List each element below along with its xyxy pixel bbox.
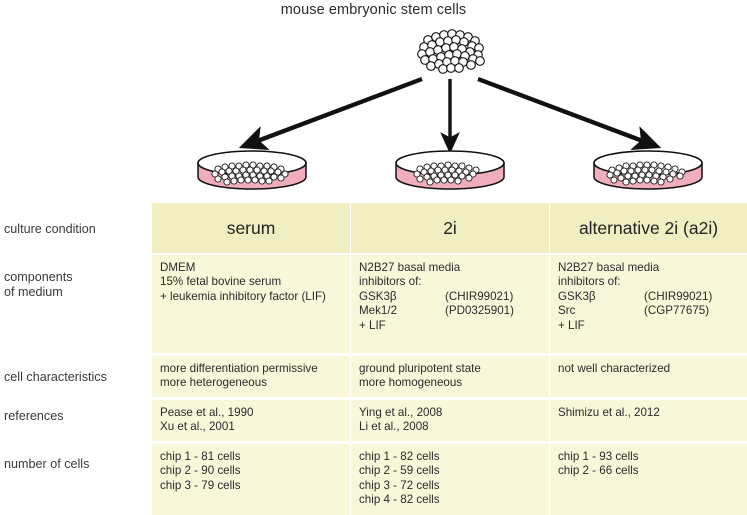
row-label-components-line1: components	[4, 270, 150, 285]
column-header-2i: 2i	[351, 203, 549, 253]
text-line: more heterogeneous	[160, 376, 350, 390]
chip-count-line: chip 1 - 82 cells	[359, 450, 549, 464]
inhibitor-compound: (CGP77675)	[644, 304, 747, 318]
petri-dish-serum	[192, 150, 312, 194]
inhibitor-compound: (PD0325901)	[445, 304, 549, 318]
row-label-cell-characteristics: cell characteristics	[4, 370, 150, 385]
table-row-references: Pease et al., 1990 Xu et al., 2001 Ying …	[152, 400, 747, 441]
inhibitor-target: GSK3β	[359, 290, 445, 304]
medium-inhibitor: Mek1/2 (PD0325901)	[359, 304, 549, 318]
text-line: not well characterized	[558, 362, 747, 376]
petri-dish-a2i	[588, 150, 708, 194]
cell-components-2i: N2B27 basal media inhibitors of: GSK3β (…	[351, 255, 549, 353]
medium-lif: + LIF	[558, 319, 747, 333]
cell-characteristics-2i: ground pluripotent state more homogeneou…	[351, 356, 549, 397]
cell-characteristics-a2i: not well characterized	[550, 356, 747, 397]
text-line: more homogeneous	[359, 376, 549, 390]
cell-counts-serum: chip 1 - 81 cells chip 2 - 90 cells chip…	[152, 444, 350, 515]
text-line: ground pluripotent state	[359, 362, 549, 376]
cell-components-a2i: N2B27 basal media inhibitors of: GSK3β (…	[550, 255, 747, 353]
inhibitor-compound: (CHIR99021)	[644, 290, 747, 304]
row-label-references: references	[4, 409, 150, 424]
petri-dish-2i	[390, 150, 510, 194]
reference-line: Pease et al., 1990	[160, 406, 350, 420]
chip-count-line: chip 4 - 82 cells	[359, 493, 549, 507]
chip-count-line: chip 2 - 66 cells	[558, 464, 747, 478]
figure-schematic: mouse embryonic stem cells	[0, 0, 747, 200]
table-grid: serum 2i alternative 2i (a2i) DMEM 15% f…	[152, 200, 747, 515]
row-label-culture-condition: culture condition	[4, 222, 150, 237]
chip-count-line: chip 1 - 81 cells	[160, 450, 350, 464]
column-header-serum: serum	[152, 203, 350, 253]
reference-line: Shimizu et al., 2012	[558, 406, 747, 420]
reference-line: Li et al., 2008	[359, 420, 549, 434]
row-label-column: culture condition components of medium c…	[0, 200, 152, 515]
medium-inhibitors-label: inhibitors of:	[558, 275, 747, 289]
inhibitor-compound: (CHIR99021)	[445, 290, 549, 304]
reference-line: Xu et al., 2001	[160, 420, 350, 434]
cell-characteristics-serum: more differentiation permissive more het…	[152, 356, 350, 397]
medium-inhibitor: GSK3β (CHIR99021)	[359, 290, 549, 304]
table-row-cell-characteristics: more differentiation permissive more het…	[152, 356, 747, 397]
chip-count-line: chip 3 - 72 cells	[359, 479, 549, 493]
arrow-to-serum	[252, 79, 422, 143]
cell-references-serum: Pease et al., 1990 Xu et al., 2001	[152, 400, 350, 441]
chip-count-line: chip 2 - 59 cells	[359, 464, 549, 478]
inhibitor-target: Mek1/2	[359, 304, 445, 318]
cell-references-a2i: Shimizu et al., 2012	[550, 400, 747, 441]
chip-count-line: chip 2 - 90 cells	[160, 464, 350, 478]
text-line: more differentiation permissive	[160, 362, 350, 376]
medium-inhibitor: GSK3β (CHIR99021)	[558, 290, 747, 304]
row-label-components-of-medium: components of medium	[4, 270, 150, 300]
reference-line: Ying et al., 2008	[359, 406, 549, 420]
medium-basal: N2B27 basal media	[359, 261, 549, 275]
comparison-table: culture condition components of medium c…	[0, 200, 747, 515]
medium-lif: + LIF	[359, 319, 549, 333]
inhibitor-target: Src	[558, 304, 644, 318]
cell-counts-2i: chip 1 - 82 cells chip 2 - 59 cells chip…	[351, 444, 549, 515]
medium-line: 15% fetal bovine serum	[160, 275, 350, 289]
row-label-number-of-cells: number of cells	[4, 457, 150, 472]
arrow-to-a2i	[478, 79, 648, 143]
medium-basal: DMEM	[160, 261, 350, 275]
table-row-components-of-medium: DMEM 15% fetal bovine serum + leukemia i…	[152, 255, 747, 353]
table-header-row: serum 2i alternative 2i (a2i)	[152, 203, 747, 253]
column-header-a2i: alternative 2i (a2i)	[550, 203, 747, 253]
cell-components-serum: DMEM 15% fetal bovine serum + leukemia i…	[152, 255, 350, 353]
table-row-number-of-cells: chip 1 - 81 cells chip 2 - 90 cells chip…	[152, 444, 747, 515]
cell-references-2i: Ying et al., 2008 Li et al., 2008	[351, 400, 549, 441]
medium-inhibitor: Src (CGP77675)	[558, 304, 747, 318]
inhibitor-target: GSK3β	[558, 290, 644, 304]
medium-basal: N2B27 basal media	[558, 261, 747, 275]
cell-counts-a2i: chip 1 - 93 cells chip 2 - 66 cells	[550, 444, 747, 515]
medium-inhibitors-label: inhibitors of:	[359, 275, 549, 289]
row-label-components-line2: of medium	[4, 285, 150, 300]
medium-line: + leukemia inhibitory factor (LIF)	[160, 290, 350, 304]
chip-count-line: chip 1 - 93 cells	[558, 450, 747, 464]
chip-count-line: chip 3 - 79 cells	[160, 479, 350, 493]
